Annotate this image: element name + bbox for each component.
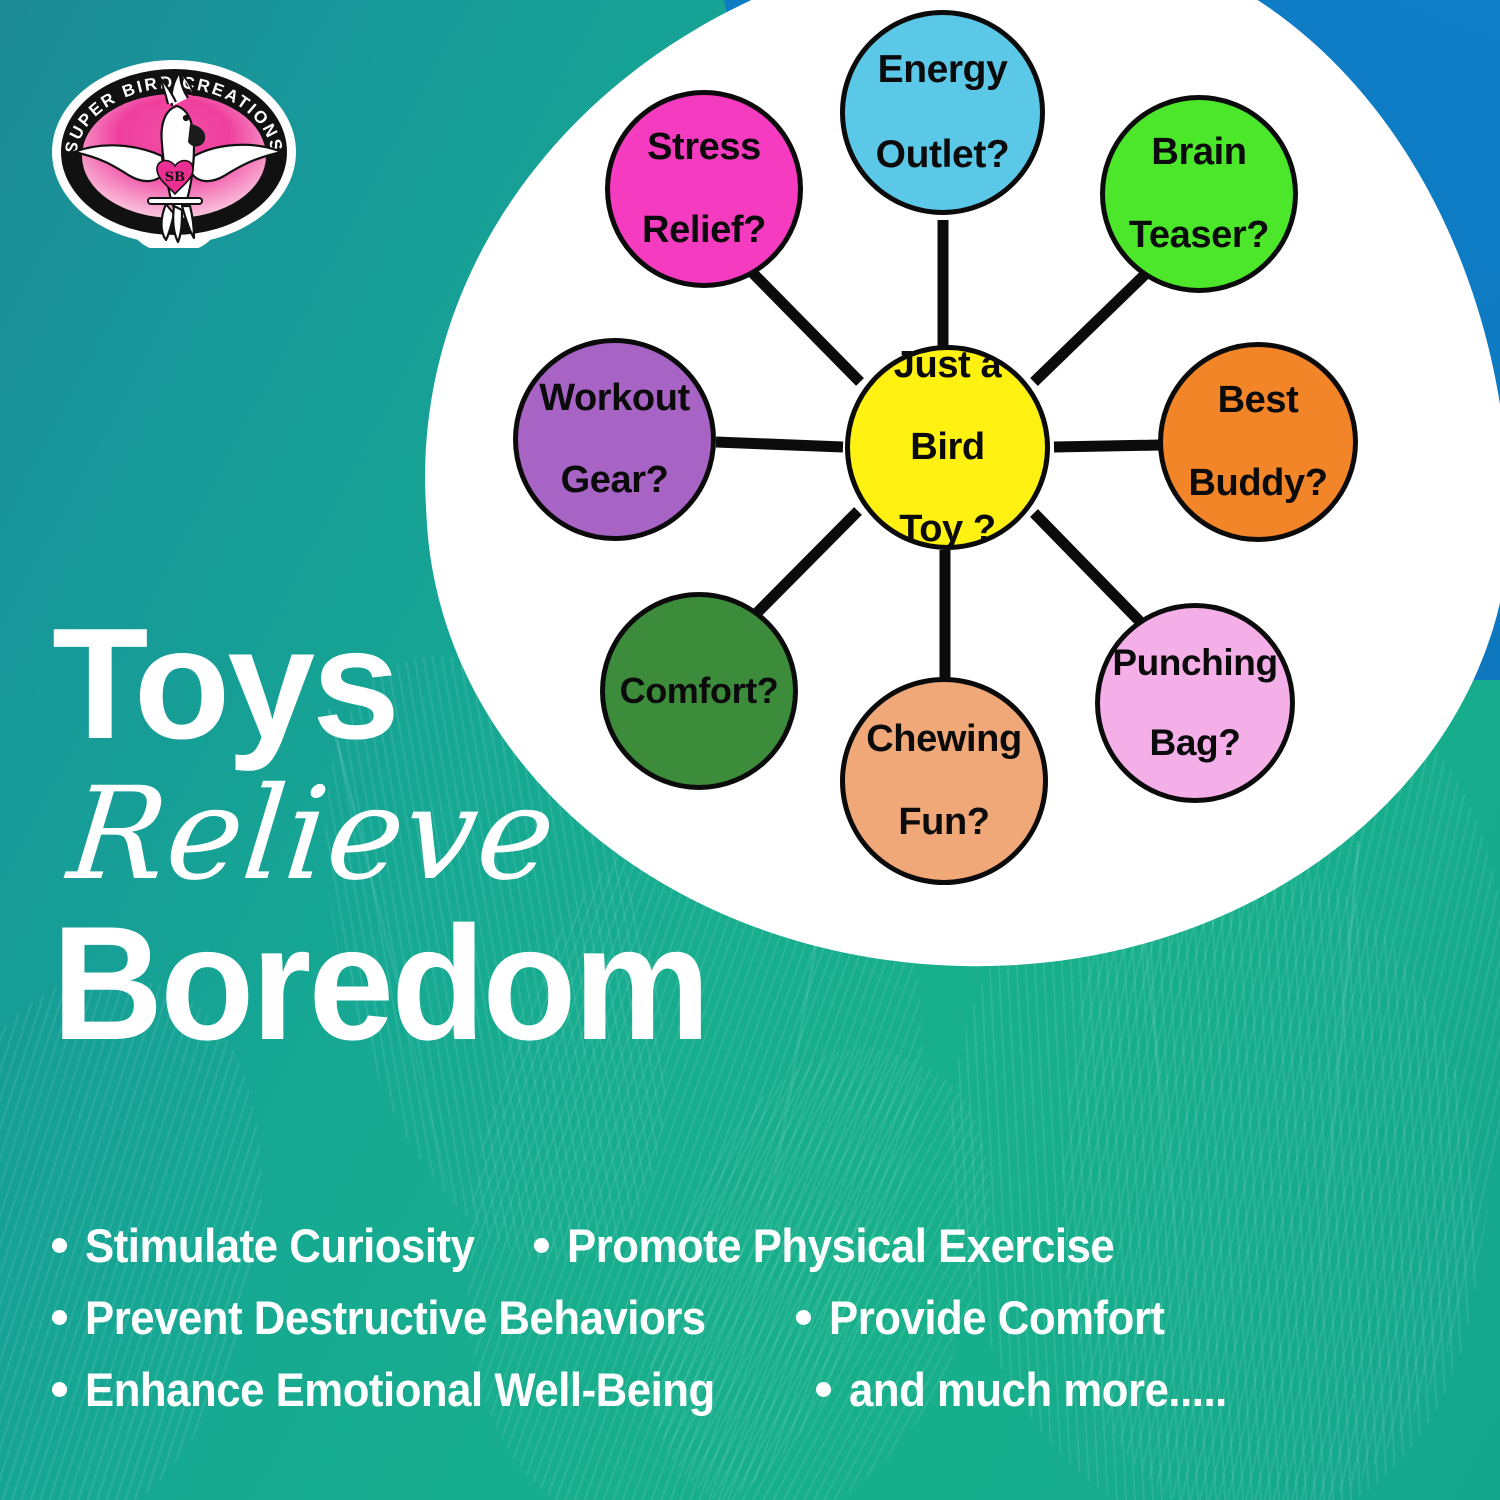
- node-line: Best: [1182, 380, 1333, 421]
- node-line: Stress: [636, 127, 772, 168]
- super-bird-creations-logo: SUPER BIRD CREATIONS: [44, 48, 304, 248]
- bullet-dot-icon: [534, 1238, 549, 1253]
- node-line: Energy: [870, 49, 1016, 91]
- benefits-list: Stimulate Curiosity Promote Physical Exe…: [52, 1218, 1452, 1434]
- poster-canvas: SUPER BIRD CREATIONS: [0, 0, 1500, 1500]
- benefit-item: and much more.....: [816, 1362, 1255, 1417]
- node-line: Gear?: [533, 460, 696, 501]
- node-line: Chewing: [860, 719, 1028, 760]
- benefit-label: Provide Comfort: [829, 1290, 1164, 1345]
- bullet-dot-icon: [796, 1310, 811, 1325]
- mindmap-node-workout-gear[interactable]: WorkoutGear?: [513, 338, 716, 541]
- benefit-label: Prevent Destructive Behaviors: [85, 1290, 706, 1345]
- mindmap-node-energy-outlet[interactable]: EnergyOutlet?: [840, 10, 1045, 215]
- node-line: Relief?: [636, 210, 772, 251]
- benefit-item: Promote Physical Exercise: [534, 1218, 1155, 1273]
- bullet-dot-icon: [52, 1382, 67, 1397]
- node-line: Toy ?: [888, 509, 1007, 550]
- bullet-dot-icon: [816, 1382, 831, 1397]
- headline-block: Toys Relieve Boredom: [52, 612, 742, 1058]
- headline-line-toys: Toys: [52, 612, 742, 757]
- benefit-item: Stimulate Curiosity: [52, 1218, 504, 1273]
- node-line: Teaser?: [1123, 215, 1275, 256]
- mindmap-node-chewing-fun[interactable]: ChewingFun?: [840, 677, 1048, 885]
- node-line: Fun?: [860, 802, 1028, 843]
- benefit-label: Promote Physical Exercise: [567, 1218, 1114, 1273]
- node-line: Bag?: [1106, 723, 1283, 763]
- node-line: Workout: [533, 378, 696, 419]
- benefit-label: and much more.....: [849, 1362, 1227, 1417]
- headline-line-relieve: Relieve: [63, 771, 749, 899]
- mindmap-node-best-buddy[interactable]: BestBuddy?: [1158, 342, 1358, 542]
- benefits-row: Enhance Emotional Well-Being and much mo…: [52, 1362, 1452, 1434]
- bullet-dot-icon: [52, 1238, 67, 1253]
- benefit-item: Prevent Destructive Behaviors: [52, 1290, 752, 1345]
- benefit-item: Provide Comfort: [796, 1290, 1190, 1345]
- benefits-row: Stimulate Curiosity Promote Physical Exe…: [52, 1218, 1452, 1290]
- node-line: Bird: [888, 427, 1007, 468]
- mindmap-node-stress-relief[interactable]: StressRelief?: [605, 90, 803, 288]
- mindmap-node-brain-teaser[interactable]: BrainTeaser?: [1100, 95, 1298, 293]
- node-line: Buddy?: [1182, 463, 1333, 504]
- bullet-dot-icon: [52, 1310, 67, 1325]
- benefit-label: Stimulate Curiosity: [85, 1218, 474, 1273]
- mindmap-node-center[interactable]: Just aBirdToy ?: [845, 345, 1050, 550]
- node-line: Outlet?: [870, 134, 1016, 176]
- mindmap-node-punching-bag[interactable]: PunchingBag?: [1095, 603, 1295, 803]
- node-line: Punching: [1106, 643, 1283, 683]
- benefit-item: Enhance Emotional Well-Being: [52, 1362, 762, 1417]
- logo-heart-monogram: SB: [165, 170, 185, 185]
- benefits-row: Prevent Destructive Behaviors Provide Co…: [52, 1290, 1452, 1362]
- node-line: Just a: [888, 345, 1007, 386]
- node-line: Brain: [1123, 132, 1275, 173]
- headline-line-boredom: Boredom: [52, 909, 708, 1058]
- benefit-label: Enhance Emotional Well-Being: [85, 1362, 715, 1417]
